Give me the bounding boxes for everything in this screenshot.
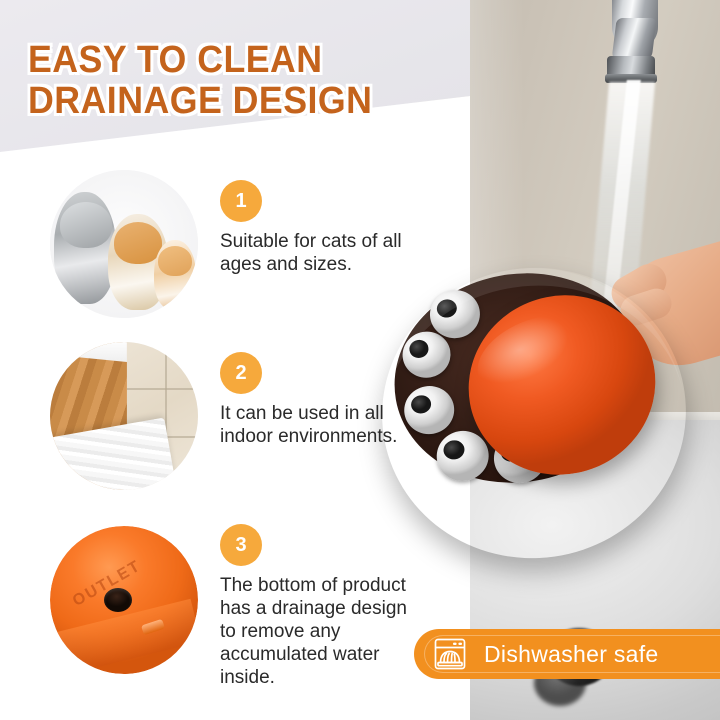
feature-text-1: Suitable for cats of all ages and sizes. <box>220 230 410 276</box>
indoor-flooring-photo <box>50 342 198 490</box>
feature-number-1: 1 <box>220 180 262 222</box>
ball-pupil <box>408 339 430 360</box>
feature-text-3: The bottom of product has a drainage des… <box>220 574 410 689</box>
three-cats-photo <box>50 170 198 318</box>
cat-large <box>54 192 116 304</box>
drain-hole <box>104 588 132 612</box>
feature-number-3: 3 <box>220 524 262 566</box>
dishwasher-safe-badge: Dishwasher safe <box>414 629 720 679</box>
cat-small <box>154 240 196 310</box>
feature-text-2: It can be used in all indoor environment… <box>220 402 410 448</box>
tile-grout-line <box>127 388 198 390</box>
feature-number-2: 2 <box>220 352 262 394</box>
product-bowl <box>372 258 702 578</box>
ball-pupil <box>442 439 466 461</box>
dishwasher-icon <box>432 637 468 671</box>
bowl-underside: OUTLET <box>50 526 198 674</box>
page-title: EASY TO CLEAN DRAINAGE DESIGN <box>28 40 423 122</box>
flooring-collage <box>50 342 198 490</box>
outlet-drain-photo: OUTLET <box>50 526 198 674</box>
title-line-2: DRAINAGE DESIGN <box>28 81 423 122</box>
cat-small-head <box>158 246 192 276</box>
infographic-canvas: EASY TO CLEAN DRAINAGE DESIGN 1 Suitable… <box>0 0 720 720</box>
ball-pupil <box>435 298 458 319</box>
badge-inner-border <box>424 635 720 673</box>
cat-large-head <box>60 202 112 248</box>
ball-pupil <box>410 393 433 414</box>
cats-scene <box>50 170 198 318</box>
title-line-1: EASY TO CLEAN <box>28 39 323 81</box>
cat-medium-head <box>114 222 162 264</box>
